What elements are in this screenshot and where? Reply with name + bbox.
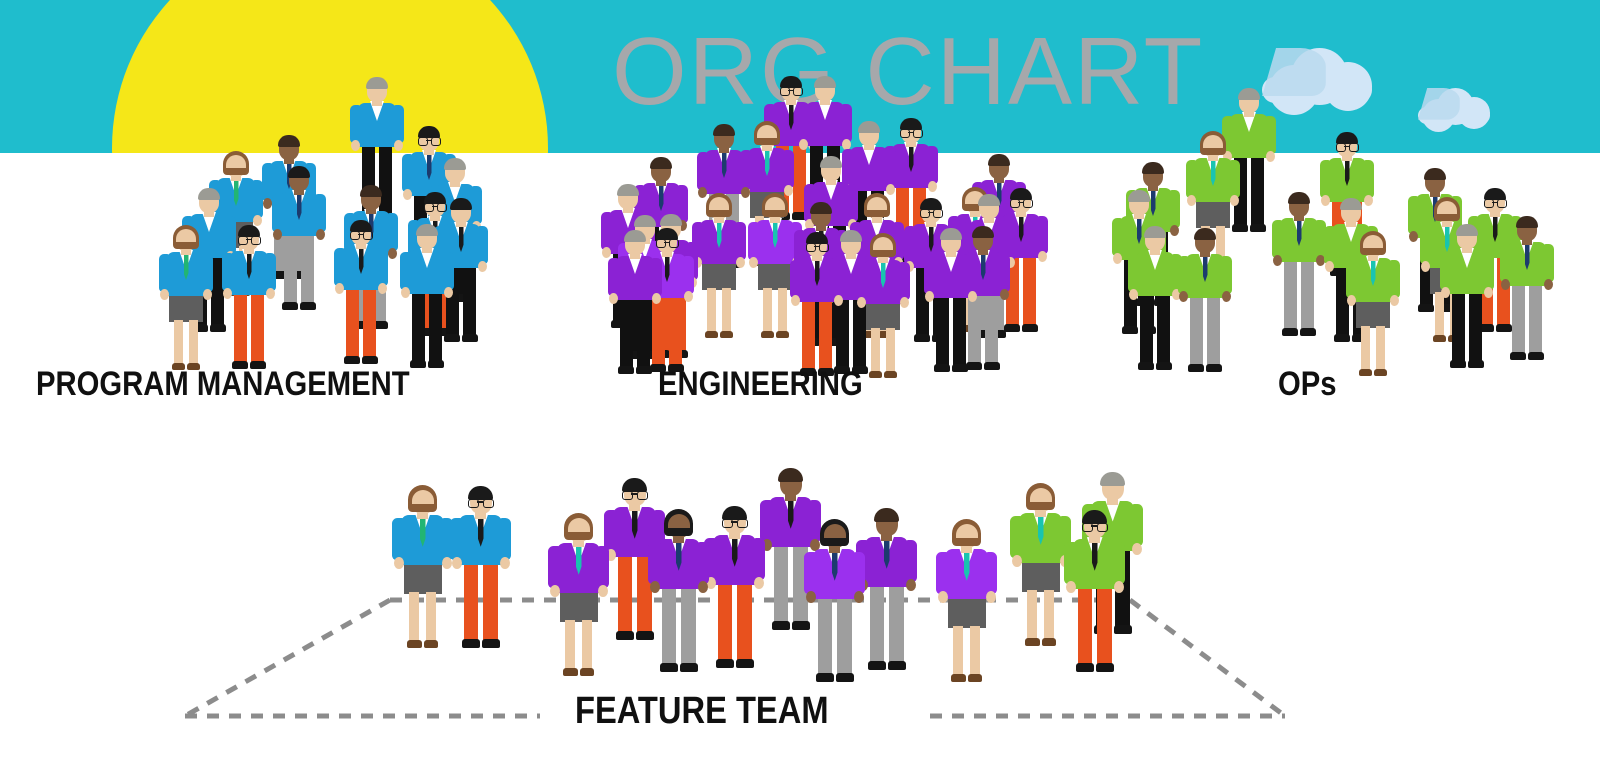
person-figure bbox=[852, 232, 914, 382]
hair bbox=[1516, 216, 1538, 228]
leg-right bbox=[1376, 326, 1385, 370]
glasses-lens-right bbox=[819, 243, 829, 252]
person-figure bbox=[1174, 226, 1236, 376]
face bbox=[1203, 135, 1223, 148]
shoe-right bbox=[636, 366, 652, 374]
arm-right bbox=[1363, 160, 1374, 198]
hair bbox=[820, 156, 842, 168]
leg-left bbox=[1284, 252, 1297, 330]
leg-right bbox=[970, 626, 980, 675]
hair bbox=[1340, 198, 1362, 210]
hand-left bbox=[394, 557, 404, 569]
hair bbox=[288, 166, 310, 178]
hand-left bbox=[1066, 581, 1076, 593]
leg-right bbox=[886, 328, 895, 372]
face bbox=[1363, 235, 1383, 248]
glasses-icon bbox=[900, 129, 922, 136]
shoe-right bbox=[1156, 362, 1172, 370]
cloud-shadow bbox=[1418, 88, 1460, 120]
glasses-icon bbox=[1082, 523, 1107, 531]
arm-right bbox=[783, 150, 794, 188]
glasses-lens-right bbox=[1349, 143, 1359, 152]
glasses-bridge bbox=[358, 234, 363, 236]
shoe-right bbox=[1468, 360, 1484, 368]
shoe-right bbox=[300, 302, 316, 310]
arm-right bbox=[697, 542, 709, 585]
leg-left bbox=[1140, 286, 1153, 364]
arm-right bbox=[853, 552, 865, 595]
shoe-left bbox=[1188, 364, 1204, 372]
hair bbox=[416, 224, 438, 236]
leg-left bbox=[1452, 284, 1465, 362]
hand-left bbox=[799, 139, 808, 150]
arm-right bbox=[1113, 542, 1125, 585]
leg-right bbox=[426, 592, 436, 641]
hand-right bbox=[986, 591, 996, 603]
hand-right bbox=[1222, 291, 1231, 302]
person-figure bbox=[932, 518, 1001, 686]
arm-left bbox=[697, 152, 708, 190]
leg-right bbox=[1251, 148, 1264, 226]
arm-right bbox=[651, 258, 662, 296]
leg-right bbox=[251, 285, 264, 363]
shoe-right bbox=[884, 371, 897, 378]
leg-left bbox=[1512, 276, 1525, 354]
shoe-left bbox=[716, 659, 734, 668]
hand-left bbox=[1179, 291, 1188, 302]
glasses-bridge bbox=[908, 132, 913, 134]
person-figure bbox=[786, 230, 848, 380]
shoe-left bbox=[869, 371, 882, 378]
glasses-lens-right bbox=[737, 519, 748, 529]
shoe-right bbox=[1528, 352, 1544, 360]
hand-left bbox=[650, 581, 660, 593]
shoe-left bbox=[951, 674, 966, 682]
hand-left bbox=[791, 295, 800, 306]
hand-right bbox=[500, 557, 510, 569]
arm-right bbox=[1229, 160, 1240, 198]
leg-right bbox=[1207, 288, 1220, 366]
hair bbox=[1128, 190, 1150, 202]
shoe-right bbox=[1022, 324, 1038, 332]
hand-right bbox=[1484, 287, 1493, 298]
group-label-program-management: PROGRAM MANAGEMENT bbox=[36, 367, 410, 401]
glasses-lens-left bbox=[1082, 523, 1093, 533]
shoe-left bbox=[761, 331, 774, 338]
person-figure bbox=[1060, 508, 1129, 676]
hand-right bbox=[378, 283, 387, 294]
shoe-left bbox=[407, 640, 422, 648]
glasses-lens-left bbox=[1484, 199, 1494, 208]
leg-left bbox=[1078, 577, 1093, 664]
arm-left bbox=[1178, 256, 1189, 294]
hand-right bbox=[854, 591, 864, 603]
leg-left bbox=[1027, 590, 1037, 639]
group-label-engineering: ENGINEERING bbox=[658, 367, 863, 401]
hand-right bbox=[1544, 279, 1553, 290]
hand-left bbox=[1325, 261, 1334, 272]
hair bbox=[1100, 472, 1125, 485]
shoe-right bbox=[1300, 328, 1316, 336]
shoe-left bbox=[660, 663, 678, 672]
hand-left bbox=[550, 585, 560, 597]
leg-left bbox=[871, 328, 880, 372]
glasses-bridge bbox=[426, 140, 431, 142]
person-figure bbox=[604, 228, 666, 378]
person-figure bbox=[920, 226, 982, 376]
hair bbox=[874, 508, 899, 521]
leg-right bbox=[1097, 577, 1112, 664]
leg-left bbox=[707, 288, 716, 332]
leg-right bbox=[1023, 248, 1036, 326]
leg-right bbox=[819, 292, 832, 370]
hand-left bbox=[1421, 261, 1430, 272]
hand-right bbox=[1230, 195, 1239, 206]
face bbox=[867, 197, 887, 210]
leg-left bbox=[620, 290, 633, 368]
leg-right bbox=[637, 290, 650, 368]
leg-right bbox=[1044, 590, 1054, 639]
face bbox=[226, 155, 246, 168]
leg-right bbox=[1529, 276, 1542, 354]
glasses-lens-right bbox=[933, 209, 943, 218]
hand-left bbox=[925, 291, 934, 302]
face bbox=[1437, 201, 1457, 214]
arm-left bbox=[350, 105, 361, 143]
glasses-lens-left bbox=[920, 209, 930, 218]
arm-left bbox=[1186, 160, 1197, 198]
arm-right bbox=[1169, 190, 1180, 228]
face bbox=[757, 125, 777, 138]
hair bbox=[444, 158, 466, 170]
hand-left bbox=[1273, 255, 1282, 266]
hair bbox=[940, 228, 962, 240]
shoe-left bbox=[816, 673, 834, 682]
arm-left bbox=[392, 518, 404, 561]
arm-left bbox=[608, 258, 619, 296]
arm-right bbox=[753, 538, 765, 581]
hand-right bbox=[834, 295, 843, 306]
hair bbox=[713, 124, 735, 136]
leg-right bbox=[953, 288, 966, 366]
glasses-icon bbox=[1336, 143, 1358, 150]
arm-left bbox=[450, 518, 462, 561]
hair bbox=[278, 135, 300, 147]
arm-right bbox=[905, 540, 917, 583]
hair bbox=[1142, 162, 1164, 174]
hair bbox=[366, 77, 388, 89]
glasses-bridge bbox=[1091, 525, 1097, 527]
group-label-ops: OPs bbox=[1278, 367, 1337, 401]
arm-right bbox=[927, 146, 938, 184]
hair bbox=[1194, 228, 1216, 240]
person-figure bbox=[396, 222, 458, 372]
sun-shape bbox=[112, 0, 548, 153]
arm-right bbox=[265, 253, 276, 291]
glasses-icon bbox=[622, 491, 647, 499]
glasses-lens-right bbox=[1023, 199, 1033, 208]
hand-left bbox=[1501, 279, 1510, 290]
glasses-bridge bbox=[631, 493, 637, 495]
person-figure bbox=[218, 223, 280, 373]
shoe-left bbox=[282, 302, 298, 310]
shoe-right bbox=[362, 356, 378, 364]
shoe-left bbox=[410, 360, 426, 368]
leg-left bbox=[802, 292, 815, 370]
hand-right bbox=[266, 288, 275, 299]
hair bbox=[1144, 226, 1166, 238]
hand-right bbox=[1132, 543, 1142, 555]
shoe-left bbox=[563, 668, 578, 676]
arm-right bbox=[1265, 116, 1276, 154]
arm-left bbox=[936, 552, 948, 595]
glasses-icon bbox=[418, 137, 440, 144]
hair bbox=[858, 121, 880, 133]
leg-left bbox=[662, 577, 677, 664]
shoe-left bbox=[1076, 663, 1094, 672]
leg-left bbox=[763, 288, 772, 332]
glasses-lens-right bbox=[251, 236, 261, 245]
glasses-bridge bbox=[814, 246, 819, 248]
hand-left bbox=[160, 289, 169, 300]
person-figure bbox=[800, 518, 869, 686]
glasses-lens-left bbox=[622, 491, 633, 501]
leg-left bbox=[774, 535, 789, 622]
hair bbox=[778, 468, 803, 481]
arm-right bbox=[999, 254, 1010, 292]
shoe-left bbox=[616, 631, 634, 640]
shoe-right bbox=[836, 673, 854, 682]
hand-left bbox=[1441, 287, 1450, 298]
hand-right bbox=[203, 289, 212, 300]
hand-right bbox=[928, 181, 937, 192]
glasses-lens-left bbox=[722, 519, 733, 529]
hair bbox=[988, 154, 1010, 166]
arm-right bbox=[833, 260, 844, 298]
hand-right bbox=[968, 291, 977, 302]
arm-right bbox=[499, 518, 511, 561]
hair bbox=[450, 198, 472, 210]
hand-right bbox=[1114, 581, 1124, 593]
leg-right bbox=[889, 575, 904, 662]
hand-left bbox=[452, 557, 462, 569]
glasses-bridge bbox=[1492, 202, 1497, 204]
leg-left bbox=[565, 620, 575, 669]
glasses-bridge bbox=[788, 90, 793, 92]
hair bbox=[1288, 192, 1310, 204]
hair bbox=[1424, 168, 1446, 180]
hand-right bbox=[684, 291, 693, 302]
leg-right bbox=[681, 577, 696, 664]
shoe-right bbox=[1042, 638, 1057, 646]
shoe-left bbox=[1359, 369, 1372, 376]
glasses-lens-right bbox=[1497, 199, 1507, 208]
glasses-icon bbox=[1484, 199, 1506, 206]
leg-right bbox=[582, 620, 592, 669]
shoe-right bbox=[888, 661, 906, 670]
arm-left bbox=[1420, 226, 1431, 264]
face bbox=[765, 197, 785, 210]
arm-left bbox=[334, 248, 345, 286]
shoe-left bbox=[934, 364, 950, 372]
hand-right bbox=[754, 577, 764, 589]
arm-left bbox=[1272, 220, 1283, 258]
leg-left bbox=[234, 285, 247, 363]
shoe-right bbox=[1206, 364, 1222, 372]
hair bbox=[978, 194, 1000, 206]
leg-right bbox=[363, 280, 376, 358]
hand-left bbox=[609, 293, 618, 304]
hand-right bbox=[1038, 251, 1047, 262]
hair bbox=[810, 202, 832, 214]
person-figure bbox=[1436, 222, 1498, 372]
face bbox=[873, 237, 893, 250]
glasses-icon bbox=[468, 499, 493, 507]
arm-left bbox=[748, 222, 759, 260]
arm-right bbox=[1131, 504, 1143, 547]
shoe-left bbox=[1138, 362, 1154, 370]
arm-right bbox=[899, 262, 910, 300]
shoe-right bbox=[720, 331, 733, 338]
arm-right bbox=[967, 256, 978, 294]
shoe-left bbox=[1450, 360, 1466, 368]
glasses-lens-right bbox=[431, 137, 441, 146]
hand-right bbox=[698, 581, 708, 593]
arm-right bbox=[1543, 244, 1554, 282]
hand-right bbox=[1000, 289, 1009, 300]
glasses-icon bbox=[806, 243, 828, 250]
glasses-lens-left bbox=[806, 243, 816, 252]
leg-left bbox=[284, 226, 297, 304]
leg-left bbox=[870, 575, 885, 662]
glasses-icon bbox=[238, 236, 260, 243]
arm-left bbox=[159, 254, 170, 292]
shoe-right bbox=[462, 334, 478, 342]
arm-right bbox=[885, 149, 896, 187]
face bbox=[176, 229, 196, 242]
arm-left bbox=[648, 542, 660, 585]
glasses-lens-left bbox=[238, 236, 248, 245]
shoe-left bbox=[772, 621, 790, 630]
glasses-icon bbox=[722, 519, 747, 527]
hair bbox=[1456, 224, 1478, 236]
shoe-right bbox=[984, 362, 1000, 370]
hand-right bbox=[444, 287, 453, 298]
arm-left bbox=[402, 154, 413, 192]
hand-right bbox=[906, 579, 916, 591]
hand-right bbox=[598, 585, 608, 597]
arm-left bbox=[1324, 226, 1335, 264]
group-label-feature-team: FEATURE TEAM bbox=[575, 692, 829, 730]
arm-right bbox=[597, 546, 609, 589]
hand-left bbox=[335, 283, 344, 294]
glasses-icon bbox=[350, 231, 372, 238]
hand-left bbox=[1347, 295, 1356, 306]
leg-left bbox=[174, 320, 183, 364]
leg-left bbox=[412, 284, 425, 362]
leg-right bbox=[1469, 284, 1482, 362]
arm-left bbox=[1064, 542, 1076, 585]
shoe-left bbox=[1510, 352, 1526, 360]
arm-right bbox=[1483, 252, 1494, 290]
arm-left bbox=[790, 260, 801, 298]
arm-left bbox=[924, 256, 935, 294]
hand-left bbox=[1129, 289, 1138, 300]
arm-left bbox=[1440, 252, 1451, 290]
hair bbox=[360, 185, 382, 197]
leg-left bbox=[464, 553, 479, 640]
glasses-icon bbox=[920, 209, 942, 216]
shoe-right bbox=[1374, 369, 1387, 376]
hand-right bbox=[1266, 151, 1275, 162]
shoe-right bbox=[482, 639, 500, 648]
arm-right bbox=[1037, 216, 1048, 254]
glasses-lens-right bbox=[913, 129, 923, 138]
hand-right bbox=[316, 229, 325, 240]
leg-right bbox=[837, 587, 852, 674]
shoe-left bbox=[618, 366, 634, 374]
arm-right bbox=[443, 252, 454, 290]
hand-left bbox=[351, 140, 360, 151]
arm-left bbox=[1010, 516, 1022, 559]
arm-right bbox=[377, 248, 388, 286]
leg-right bbox=[985, 286, 998, 364]
leg-left bbox=[1361, 326, 1370, 370]
shoe-right bbox=[680, 663, 698, 672]
org-chart-infographic: ORG CHART PROGRAM MANAGEMENTENGINEERINGO… bbox=[0, 0, 1600, 779]
glasses-lens-right bbox=[363, 231, 373, 240]
person-figure bbox=[155, 224, 217, 374]
shoe-left bbox=[1282, 328, 1298, 336]
hair bbox=[198, 188, 220, 200]
leg-left bbox=[718, 573, 733, 660]
leg-left bbox=[346, 280, 359, 358]
leg-right bbox=[669, 288, 682, 366]
shoe-right bbox=[1250, 224, 1266, 232]
hand-left bbox=[401, 287, 410, 298]
leg-right bbox=[189, 320, 198, 364]
arm-left bbox=[856, 262, 867, 300]
arm-right bbox=[1221, 256, 1232, 294]
leg-left bbox=[1190, 288, 1203, 366]
hand-left bbox=[1113, 253, 1122, 264]
arm-left bbox=[400, 252, 411, 290]
hand-left bbox=[749, 257, 758, 268]
shoe-right bbox=[424, 640, 439, 648]
glasses-lens-right bbox=[483, 499, 494, 509]
leg-right bbox=[483, 553, 498, 640]
hand-left bbox=[223, 288, 232, 299]
arm-left bbox=[1346, 260, 1357, 298]
hair bbox=[617, 184, 639, 196]
glasses-lens-left bbox=[780, 87, 790, 96]
arm-right bbox=[1389, 260, 1400, 298]
hair bbox=[650, 157, 672, 169]
hand-left bbox=[857, 297, 866, 308]
leg-right bbox=[1157, 286, 1170, 364]
person-figure bbox=[644, 508, 713, 676]
shoe-right bbox=[428, 360, 444, 368]
arm-left bbox=[222, 253, 233, 291]
hair bbox=[624, 230, 646, 242]
hand-left bbox=[806, 591, 816, 603]
person-figure bbox=[1496, 214, 1558, 364]
shoe-left bbox=[705, 331, 718, 338]
leg-left bbox=[953, 626, 963, 675]
glasses-lens-left bbox=[350, 231, 360, 240]
glasses-lens-left bbox=[1336, 143, 1346, 152]
glasses-bridge bbox=[928, 212, 933, 214]
